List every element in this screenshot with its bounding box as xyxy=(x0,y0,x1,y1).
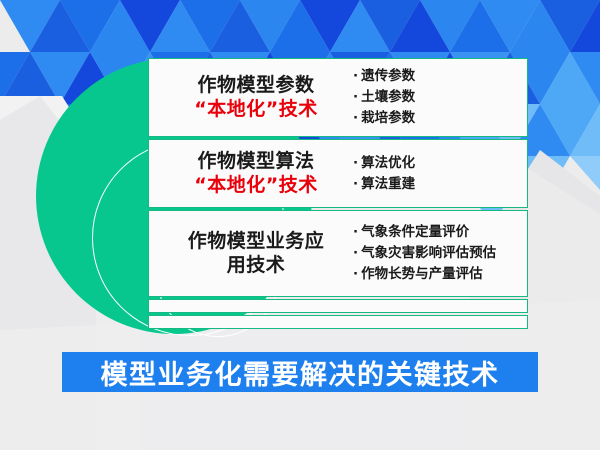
bottom-title-banner: 模型业务化需要解决的关键技术 xyxy=(62,352,538,392)
bullet-dot-icon: · xyxy=(353,224,358,240)
list-item-label: 土壤参数 xyxy=(361,89,415,105)
list-item-label: 气象条件定量评价 xyxy=(361,224,469,240)
row-title-black: 作物模型业务应用技术 xyxy=(165,230,347,278)
list-item: ·算法重建 xyxy=(353,174,527,195)
bullet-dot-icon: · xyxy=(353,110,358,126)
bullet-dot-icon: · xyxy=(353,245,358,261)
row-title-cell: 作物模型算法 “本地化”技术 xyxy=(149,150,347,198)
bullet-dot-icon: · xyxy=(353,155,358,171)
row-bullets-cell: ·算法优化 ·算法重建 xyxy=(347,153,527,195)
table-row[interactable]: 作物模型参数 “本地化”技术 ·遗传参数 ·土壤参数 ·栽培参数 xyxy=(148,58,528,137)
row-title-red: “本地化”技术 xyxy=(165,98,347,122)
row-title-black: 作物模型参数 xyxy=(165,74,347,98)
table-row[interactable]: 作物模型业务应用技术 ·气象条件定量评价 ·气象灾害影响评估预估 ·作物长势与产… xyxy=(148,210,528,297)
list-item: ·土壤参数 xyxy=(353,87,527,108)
bullet-dot-icon: · xyxy=(353,266,358,282)
bullet-dot-icon: · xyxy=(353,176,358,192)
table-row-empty[interactable] xyxy=(148,315,528,329)
list-item: ·作物长势与产量评估 xyxy=(353,264,527,285)
list-item: ·算法优化 xyxy=(353,153,527,174)
slide-canvas: 作物模型参数 “本地化”技术 ·遗传参数 ·土壤参数 ·栽培参数 作物模型算法 … xyxy=(0,0,600,450)
table-row-empty[interactable] xyxy=(148,299,528,313)
row-title-black: 作物模型算法 xyxy=(165,150,347,174)
page-title: 模型业务化需要解决的关键技术 xyxy=(101,353,500,392)
bullet-dot-icon: · xyxy=(353,89,358,105)
row-title-cell: 作物模型参数 “本地化”技术 xyxy=(149,74,347,122)
list-item-label: 算法重建 xyxy=(361,176,415,192)
row-bullets-cell: ·气象条件定量评价 ·气象灾害影响评估预估 ·作物长势与产量评估 xyxy=(347,222,527,285)
list-item-label: 作物长势与产量评估 xyxy=(361,266,483,282)
list-item: ·气象条件定量评价 xyxy=(353,222,527,243)
list-item-label: 算法优化 xyxy=(361,155,415,171)
row-title-cell: 作物模型业务应用技术 xyxy=(149,230,347,278)
list-item: ·气象灾害影响评估预估 xyxy=(353,243,527,264)
list-item: ·遗传参数 xyxy=(353,66,527,87)
row-bullets-cell: ·遗传参数 ·土壤参数 ·栽培参数 xyxy=(347,66,527,129)
technology-rows-container: 作物模型参数 “本地化”技术 ·遗传参数 ·土壤参数 ·栽培参数 作物模型算法 … xyxy=(148,58,528,331)
list-item: ·栽培参数 xyxy=(353,108,527,129)
list-item-label: 栽培参数 xyxy=(361,110,415,126)
row-title-red: “本地化”技术 xyxy=(165,174,347,198)
table-row[interactable]: 作物模型算法 “本地化”技术 ·算法优化 ·算法重建 xyxy=(148,139,528,208)
list-item-label: 遗传参数 xyxy=(361,68,415,84)
bullet-dot-icon: · xyxy=(353,68,358,84)
list-item-label: 气象灾害影响评估预估 xyxy=(361,245,496,261)
